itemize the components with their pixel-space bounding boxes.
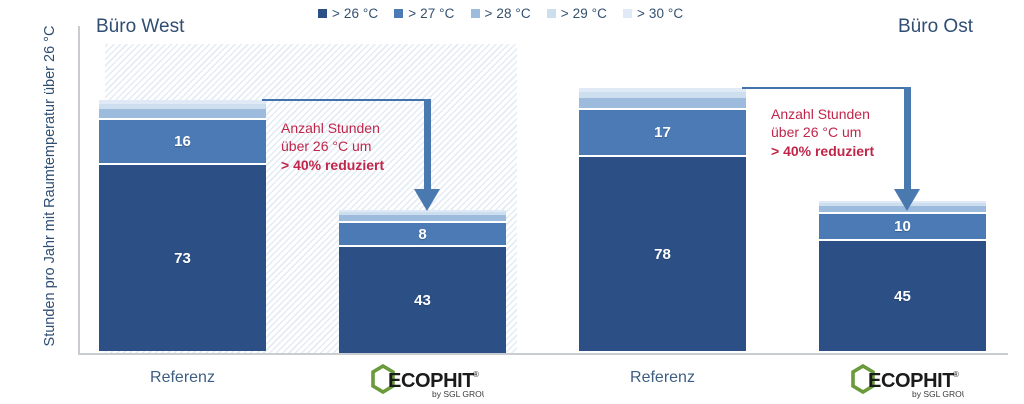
segment-27-west-ref: 16 [99,120,266,165]
chart-canvas: > 26 °C > 27 °C > 28 °C > 29 °C > 30 °C … [0,0,1024,404]
value-label-west-eco-27: 8 [418,227,426,242]
logo-tagline-ost: by SGL GROUP [912,389,964,399]
x-axis-line [78,353,1008,355]
annotation-ost-line2: über 26 °C um [771,124,861,140]
segment-26-ost-eco: 45 [819,241,986,351]
annotation-west: Anzahl Stunden über 26 °C um > 40% reduz… [281,119,384,174]
segment-28-west-eco [339,215,506,223]
value-label-west-ref-27: 16 [174,134,191,149]
bar-west-ecophit[interactable]: 8 43 [339,210,506,353]
arrow-connector-ost [742,87,910,89]
annotation-ost-line3: > 40% reduziert [771,142,874,160]
segment-27-ost-eco: 10 [819,214,986,241]
arrow-connector-west [262,99,430,101]
bar-west-referenz[interactable]: 16 73 [99,100,266,353]
arrow-head-west-icon [414,189,440,211]
value-label-ost-eco-27: 10 [894,219,911,234]
bar-ost-ecophit[interactable]: 10 45 [819,201,986,353]
value-label-west-eco-26: 43 [414,293,431,308]
value-label-ost-eco-26: 45 [894,289,911,304]
value-label-ost-ref-27: 17 [654,125,671,140]
value-label-ost-ref-26: 78 [654,247,671,262]
bar-ost-referenz[interactable]: 17 78 [579,88,746,353]
arrow-head-ost-icon [894,189,920,211]
logo-tagline-west: by SGL GROUP [432,389,484,399]
segment-27-ost-ref: 17 [579,110,746,157]
xtick-ost-referenz: Referenz [579,369,746,387]
annotation-west-line2: über 26 °C um [281,138,371,154]
xtick-ost-ecophit-logo[interactable]: ECOPHIT ® by SGL GROUP [840,363,964,403]
value-label-west-ref-26: 73 [174,251,191,266]
xtick-west-ecophit-logo[interactable]: ECOPHIT ® by SGL GROUP [360,363,484,403]
arrow-shaft-ost [904,87,911,191]
logo-registered-west: ® [473,370,479,379]
annotation-west-line1: Anzahl Stunden [281,120,380,136]
segment-28-west-ref [99,109,266,120]
segment-26-ost-ref: 78 [579,157,746,351]
logo-registered-ost: ® [953,370,959,379]
xtick-west-referenz: Referenz [99,369,266,387]
annotation-ost: Anzahl Stunden über 26 °C um > 40% reduz… [771,105,874,160]
arrow-shaft-west [424,99,431,191]
segment-26-west-eco: 43 [339,247,506,353]
segment-28-ost-ref [579,98,746,110]
segment-26-west-ref: 73 [99,165,266,351]
annotation-ost-line1: Anzahl Stunden [771,106,870,122]
segment-27-west-eco: 8 [339,223,506,247]
annotation-west-line3: > 40% reduziert [281,156,384,174]
